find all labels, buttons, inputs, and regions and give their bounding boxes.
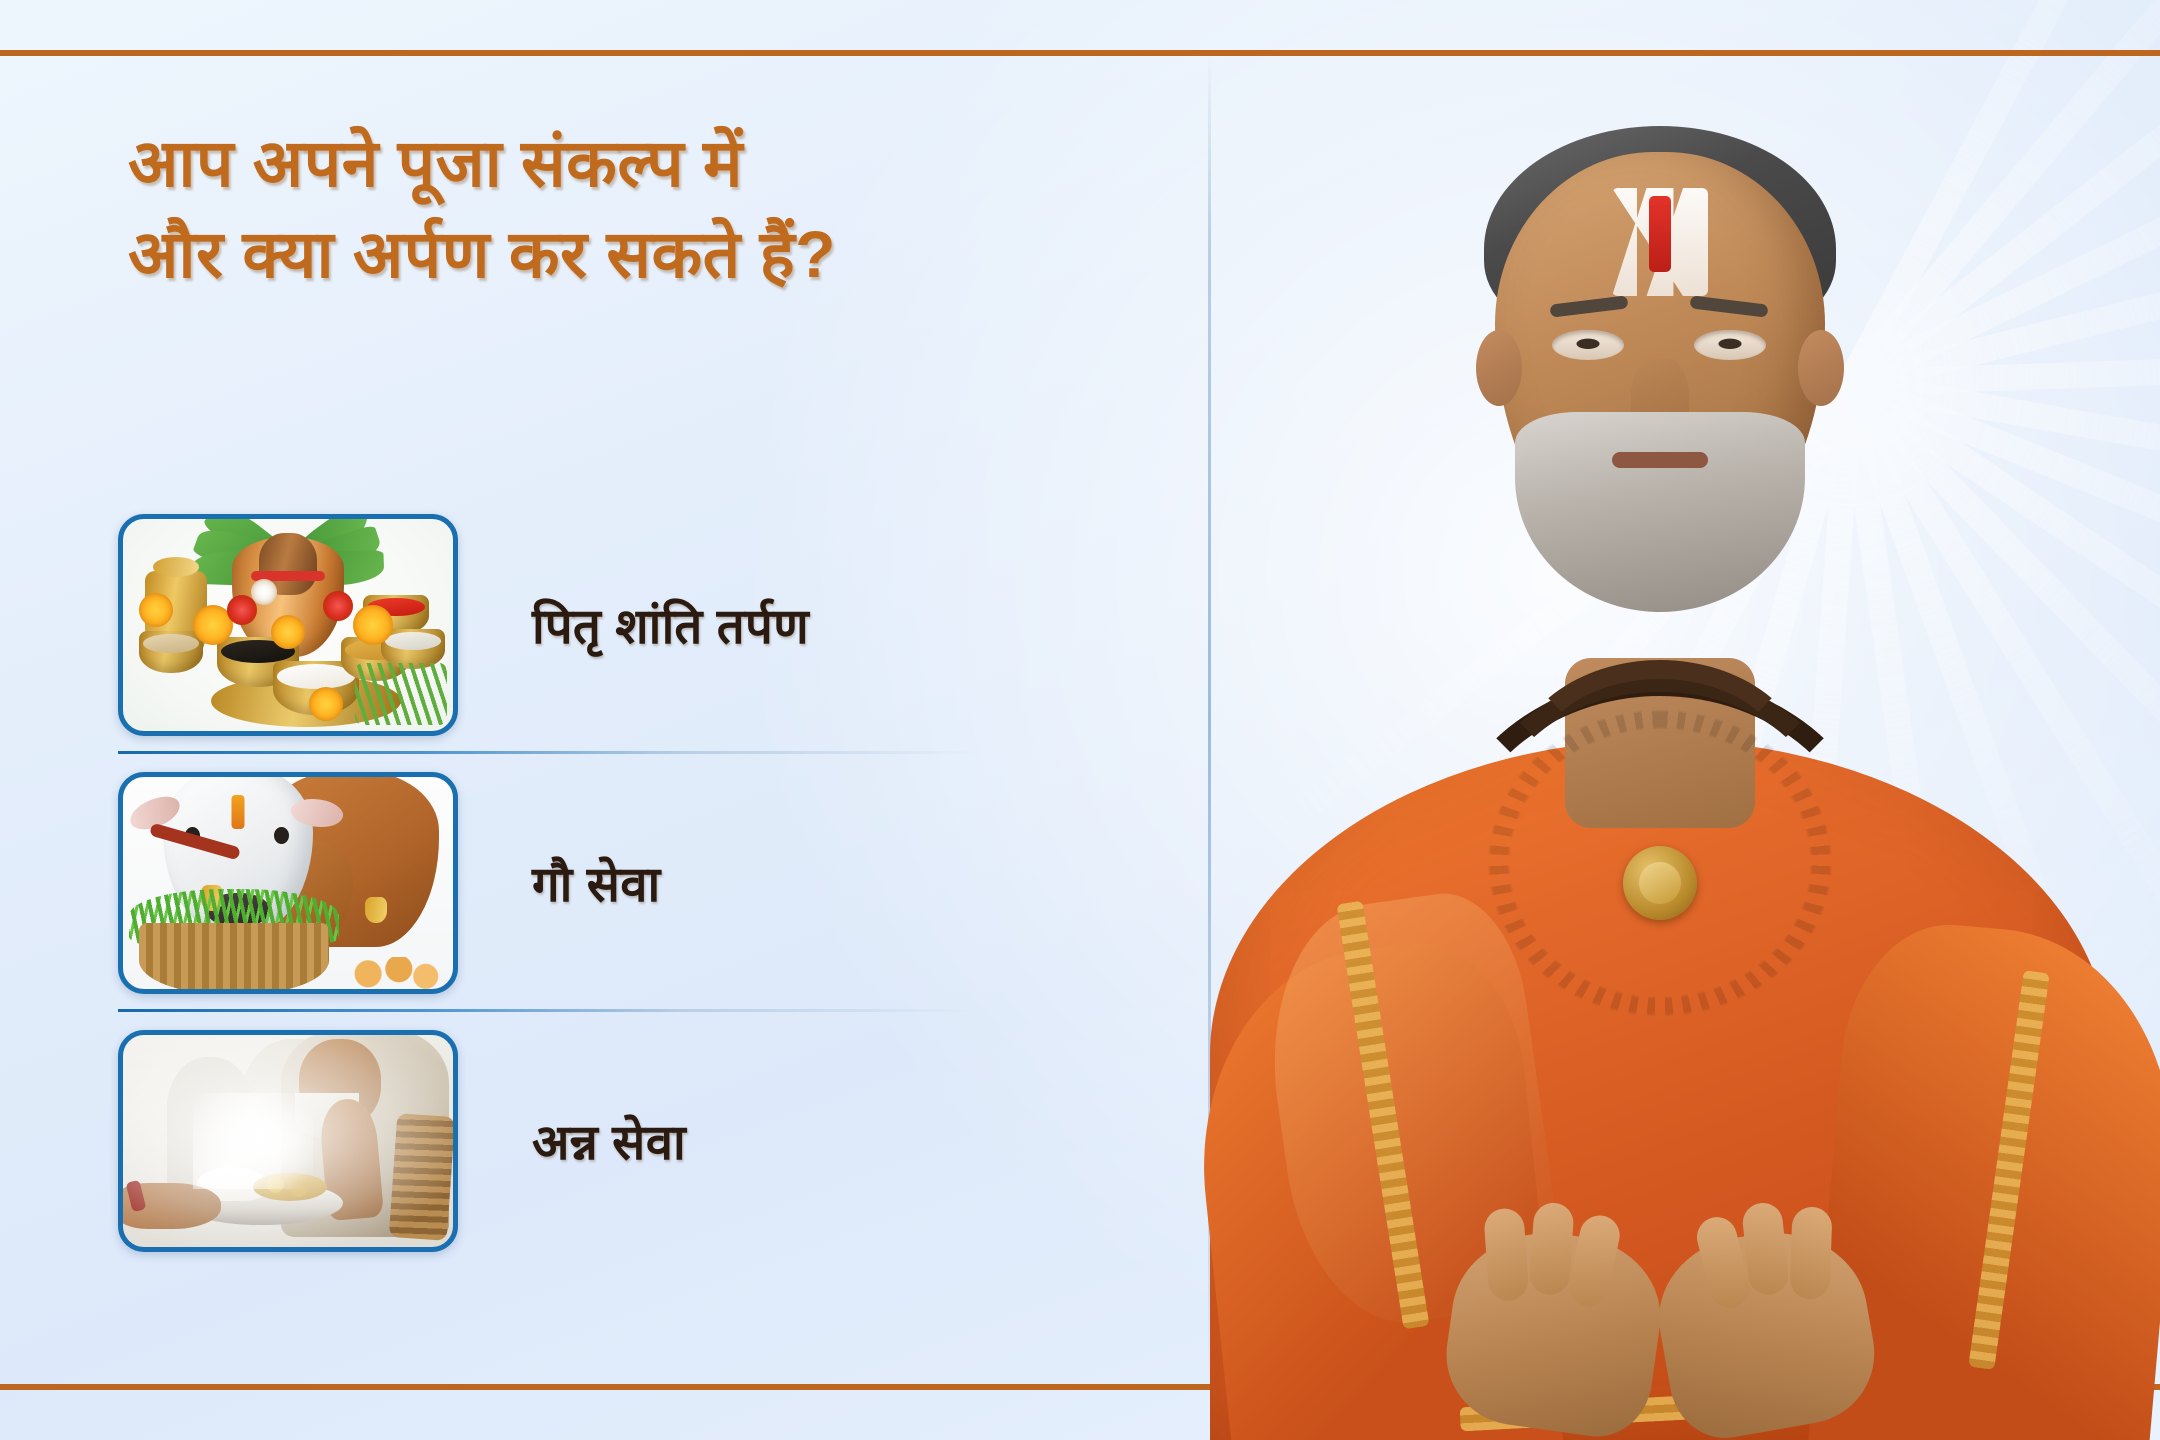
hand-right <box>1647 1217 1886 1440</box>
cow-bell-icon <box>365 897 387 923</box>
hands-group <box>1450 1180 1870 1430</box>
marigold-icon <box>309 687 343 721</box>
eye-left <box>1552 330 1624 360</box>
hand-left <box>1437 1220 1670 1440</box>
red-bindi-icon <box>1649 196 1671 272</box>
page-title-line1: आप अपने पूजा संकल्प में <box>128 126 743 200</box>
content-column: आप अपने पूजा संकल्प में और क्या अर्पण कर… <box>0 56 1210 1384</box>
white-flower-icon <box>251 579 277 605</box>
basket-icon <box>139 923 329 994</box>
marigold-icon <box>139 593 173 627</box>
offering-item-pitru-shanti-tarpan[interactable]: 卐 <box>118 496 1118 754</box>
marigold-icon <box>271 615 305 649</box>
offering-label: अन्न सेवा <box>532 1108 686 1174</box>
offering-label: पितृ शांति तर्पण <box>532 592 809 658</box>
light-haze <box>123 1035 453 1247</box>
food-serving-image <box>118 1030 458 1252</box>
page-title-line2: और क्या अर्पण कर सकते हैं? <box>128 209 1188 300</box>
cow-feeding-image <box>118 772 458 994</box>
page-title: आप अपने पूजा संकल्प में और क्या अर्पण कर… <box>128 118 1188 300</box>
rose-icon <box>323 591 353 621</box>
cow-eye-right <box>274 827 289 844</box>
offering-label: गौ सेवा <box>532 850 661 916</box>
bowl-nuts <box>139 631 203 673</box>
cow-tilak <box>232 795 245 829</box>
offering-item-anna-seva[interactable]: अन्न सेवा <box>118 1012 1118 1270</box>
puja-thali-image: 卐 <box>118 514 458 736</box>
lips <box>1612 452 1708 468</box>
offerings-list: 卐 <box>118 496 1118 1270</box>
poster-canvas: आप अपने पूजा संकल्प में और क्या अर्पण कर… <box>0 0 2160 1440</box>
mala-pendant-icon <box>1623 846 1697 920</box>
ear-right <box>1798 330 1844 406</box>
beard <box>1515 412 1805 612</box>
durva-grass-icon <box>355 663 447 725</box>
priest-portrait <box>1160 0 2160 1440</box>
ear-left <box>1476 330 1522 406</box>
laddu-icon <box>347 957 443 994</box>
eye-right <box>1694 330 1766 360</box>
offering-item-gau-seva[interactable]: गौ सेवा <box>118 754 1118 1012</box>
marigold-icon <box>353 605 393 645</box>
